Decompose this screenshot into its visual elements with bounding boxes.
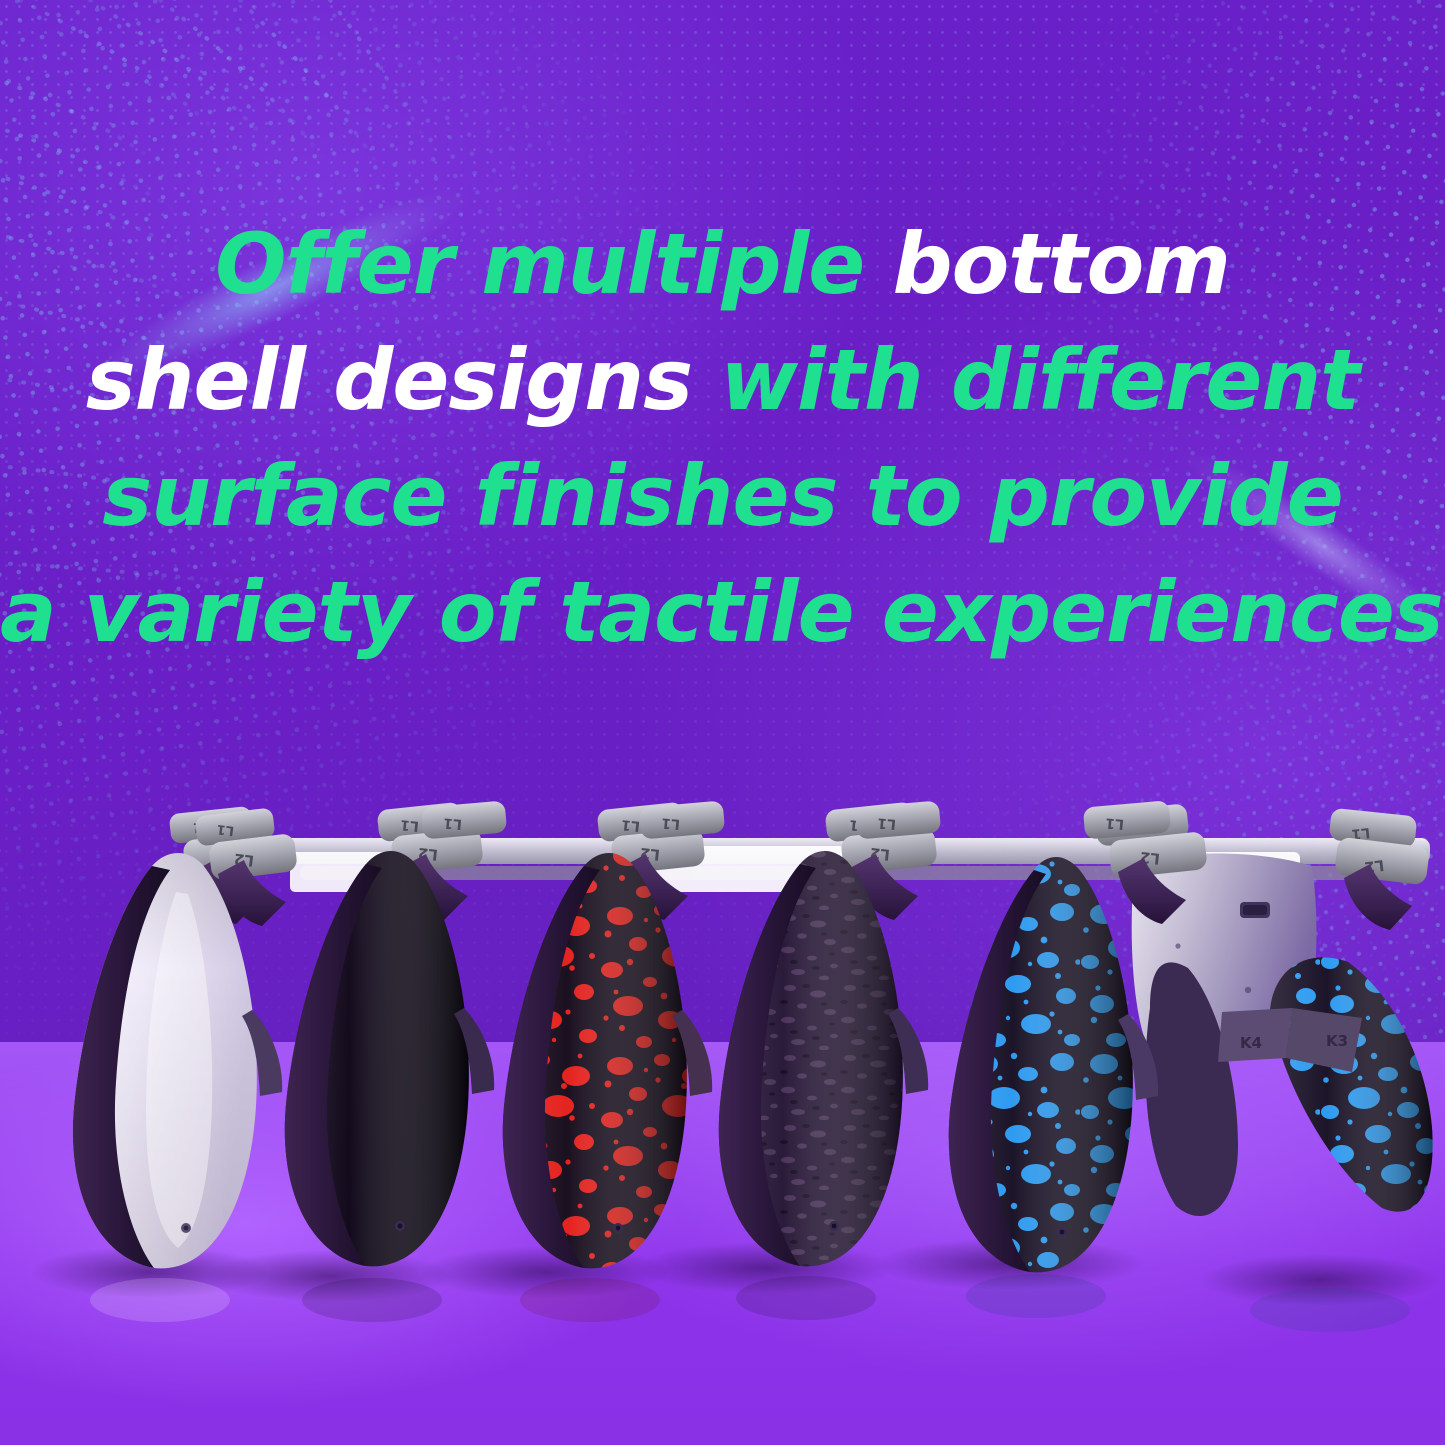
trigger-label-l1: L1 [661, 814, 681, 832]
headline-line-4: a variety of tactile experiences. [0, 554, 1445, 670]
headline-seg-white-1: bottom [892, 215, 1229, 313]
paddle-label-k3: K3 [1326, 1032, 1348, 1050]
paddle-label-k4: K4 [1240, 1034, 1262, 1052]
headline-line-2: shell designs with different [0, 322, 1445, 438]
product-banner: Offer multiple bottom shell designs with… [0, 0, 1445, 1445]
headline-seg-green-2: with different [720, 331, 1359, 429]
trigger-label-l1: L1 [443, 814, 463, 832]
trigger-label-l1: L1 [400, 816, 420, 834]
headline-seg-green-1: Offer multiple [215, 215, 892, 313]
headline-line-1: Offer multiple bottom [0, 206, 1445, 322]
trigger-label-l1: L1 [877, 814, 897, 832]
trigger-label-l1: L1 [621, 816, 641, 834]
trigger-label-l1: L1 [1105, 814, 1125, 832]
headline-line-3: surface finishes to provide [0, 438, 1445, 554]
trigger-label-l1: L1 [216, 821, 235, 838]
headline: Offer multiple bottom shell designs with… [0, 206, 1445, 670]
controller-6-metallic-silver: K3 K4 L1 L2 L1 L2 [1094, 803, 1432, 1216]
floor-contact-shadows [30, 1238, 1440, 1306]
controller-1-glossy-white: L1 L2 [73, 807, 298, 1268]
headline-seg-white-2: shell designs [86, 331, 721, 429]
